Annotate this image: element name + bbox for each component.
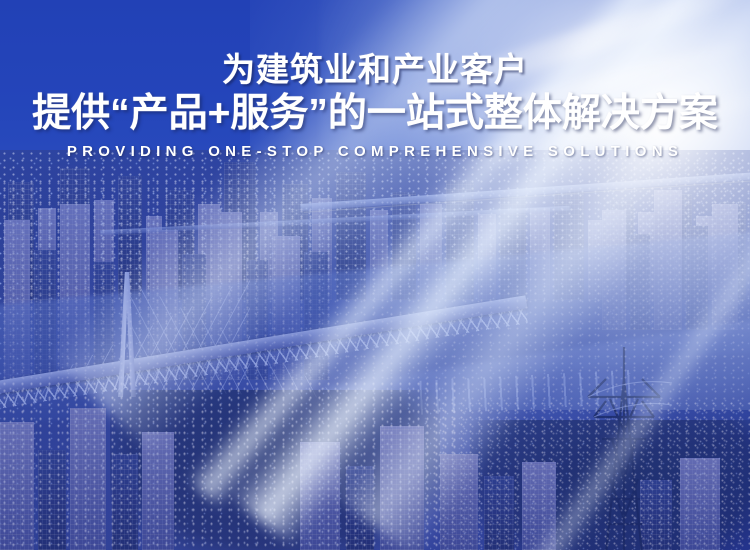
hero-banner: 为建筑业和产业客户 提供“产品+服务”的一站式整体解决方案 PROVIDING …	[0, 0, 750, 550]
headline-line-1: 为建筑业和产业客户	[0, 0, 750, 89]
headline-group: 为建筑业和产业客户 提供“产品+服务”的一站式整体解决方案 PROVIDING …	[0, 0, 750, 200]
headline-line-2: 提供“产品+服务”的一站式整体解决方案	[0, 89, 750, 136]
scene-point-lights	[0, 150, 750, 550]
headline-subtitle: PROVIDING ONE-STOP COMPREHENSIVE SOLUTIO…	[0, 136, 750, 160]
cityscape-photo	[0, 150, 750, 550]
